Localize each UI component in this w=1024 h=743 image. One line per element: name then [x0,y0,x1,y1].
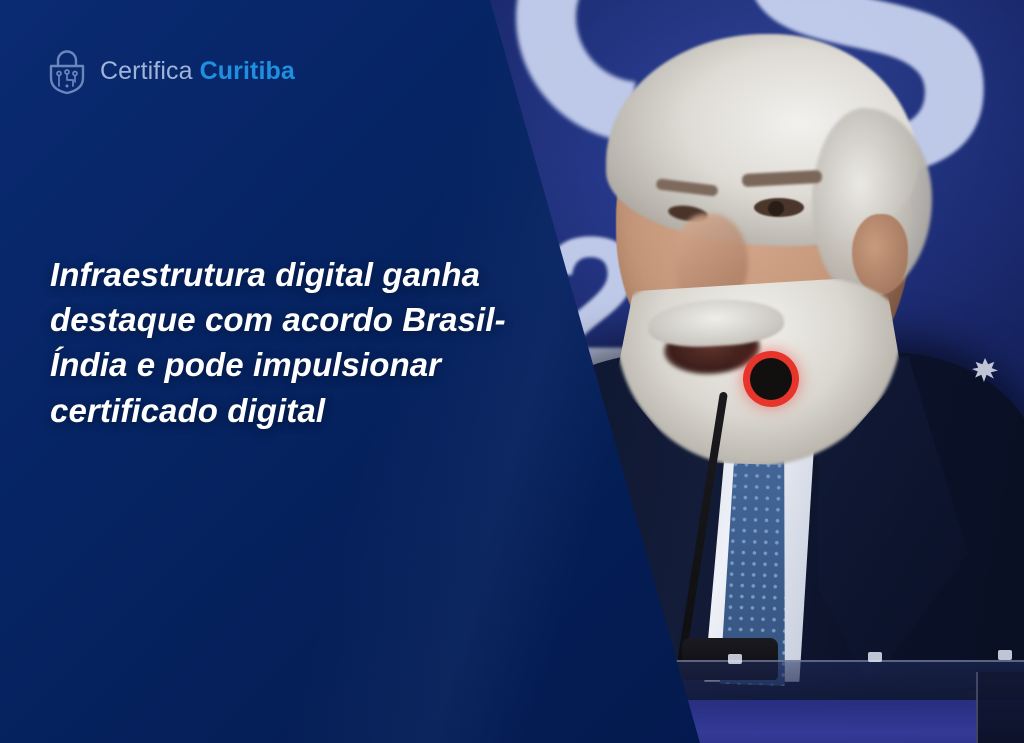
pupil-right [768,201,784,216]
podium-side [976,672,1024,743]
brand-logo[interactable]: Certifica Curitiba [46,48,295,94]
brand-name: Certifica Curitiba [100,57,295,86]
podium-clip [728,654,742,664]
podium-clip [998,650,1012,660]
news-banner: S 25 [0,0,1024,743]
ear [852,214,908,294]
podium-clip [868,652,882,662]
brand-name-light: Certifica [100,57,193,85]
microphone-head [750,358,792,400]
padlock-circuit-icon [46,48,88,94]
brand-name-bold: Curitiba [200,57,295,85]
headline-title: Infraestrutura digital ganha destaque co… [50,252,530,433]
